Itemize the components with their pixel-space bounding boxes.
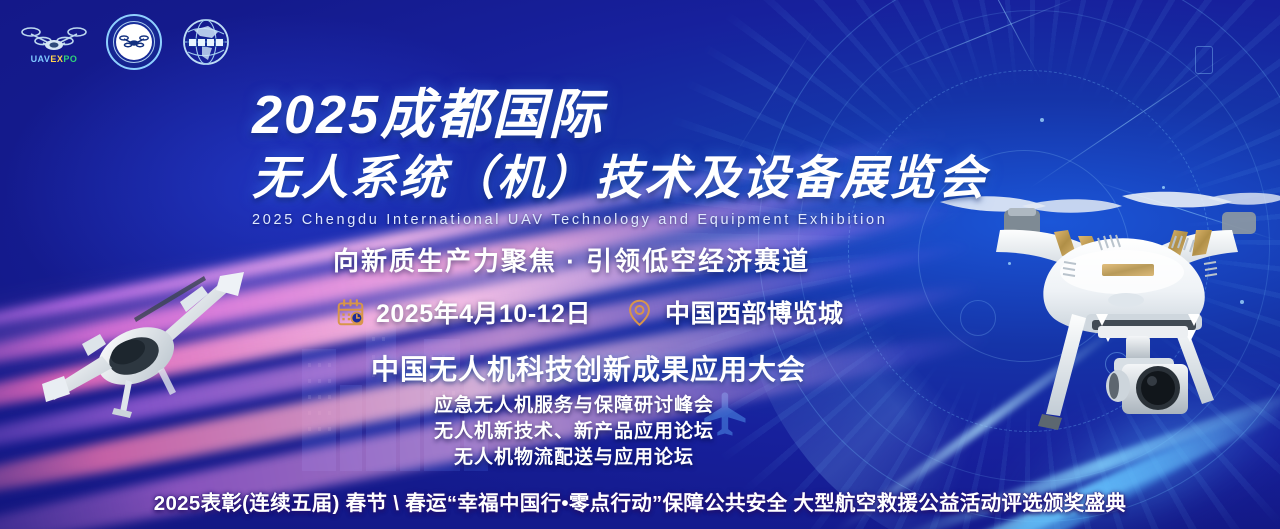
drone-logo-icon (19, 21, 89, 53)
event-date: 2025年4月10-12日 (336, 294, 591, 330)
uav-text: UAV (31, 54, 51, 64)
calendar-icon (336, 298, 365, 327)
title-line-2: 无人系统（机）技术及设备展览会 (252, 154, 952, 201)
po-text: PO (63, 54, 77, 64)
sub-event-item: 无人机物流配送与应用论坛 (0, 445, 1280, 471)
seal-drone-glyph (119, 33, 149, 51)
bottom-award-band: 2025表彰(连续五届) 春节 \ 春运“幸福中国行•零点行动”保障公共安全 大… (0, 473, 1280, 529)
uav-expo-banner: UAVEXPO (0, 0, 1280, 529)
sub-events-list: 应急无人机服务与保障研讨峰会 无人机新技术、新产品应用论坛 无人机物流配送与应用… (0, 393, 1280, 471)
sub-event-item: 应急无人机服务与保障研讨峰会 (0, 393, 1280, 419)
title-line-1: 2025成都国际 (252, 88, 952, 142)
sub-event-item: 无人机新技术、新产品应用论坛 (0, 419, 1280, 445)
banner-content: 2025成都国际 无人系统（机）技术及设备展览会 2025 Chengdu In… (0, 0, 1280, 529)
title-english: 2025 Chengdu International UAV Technolog… (252, 212, 952, 228)
association-seal-logo (106, 14, 162, 70)
conference-title: 中国无人机科技创新成果应用大会 (371, 348, 806, 388)
event-location: 中国西部博览城 (625, 294, 844, 330)
event-location-text: 中国西部博览城 (665, 294, 844, 330)
uav-expo-wordmark: UAVEXPO (31, 54, 78, 64)
location-pin-icon (625, 298, 654, 327)
ex-text: EX (50, 54, 63, 64)
globe-icon (178, 16, 234, 68)
title-block: 2025成都国际 无人系统（机）技术及设备展览会 2025 Chengdu In… (252, 88, 952, 228)
tagline: 向新质生产力聚焦 · 引领低空经济赛道 (333, 241, 810, 278)
event-meta: 2025年4月10-12日 中国西部博览城 (336, 294, 843, 330)
bottom-award-text: 2025表彰(连续五届) 春节 \ 春运“幸福中国行•零点行动”保障公共安全 大… (154, 486, 1126, 516)
event-date-text: 2025年4月10-12日 (376, 294, 591, 330)
logo-group: UAVEXPO (18, 14, 234, 70)
globe-brand-logo (178, 16, 234, 68)
uav-expo-logo: UAVEXPO (18, 17, 90, 67)
